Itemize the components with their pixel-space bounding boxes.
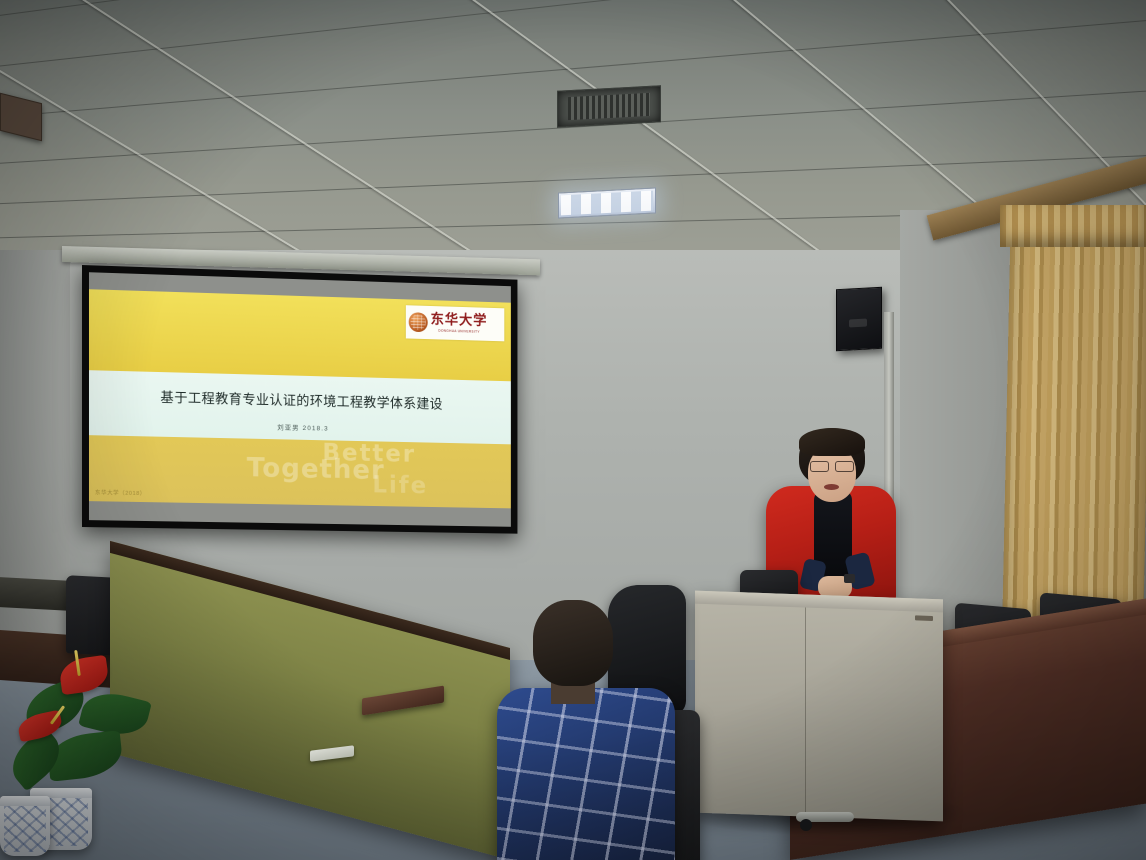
wall-speaker-icon: [836, 287, 882, 351]
anthurium-flower: [58, 655, 110, 695]
table-caster-base: [796, 812, 854, 822]
globe-icon: [409, 312, 428, 332]
anthurium-plant-small: [0, 786, 60, 860]
slide-footer: 东华大学（2018）: [95, 488, 146, 497]
pot-rim: [0, 796, 50, 806]
seated-audience-person: [495, 600, 680, 860]
podium-door-seam: [805, 608, 806, 817]
lecture-room-photo: 东华大学 DONGHUA UNIVERSITY Together Better …: [0, 0, 1146, 860]
porcelain-pot-small: [0, 796, 50, 856]
presenter-fringe: [799, 428, 865, 456]
logo-chinese-name: 东华大学: [431, 313, 488, 328]
presenter-wristwatch: [844, 574, 855, 583]
plaid-shirt: [497, 688, 675, 860]
glasses-icon: [810, 461, 854, 470]
university-logo: 东华大学 DONGHUA UNIVERSITY: [406, 305, 504, 341]
logo-english-name: DONGHUA UNIVERSITY: [438, 329, 479, 334]
presentation-slide: 东华大学 DONGHUA UNIVERSITY Together Better …: [89, 289, 511, 508]
lectern-podium: [695, 591, 943, 822]
person-head: [533, 600, 613, 686]
presenter-mouth: [824, 484, 839, 490]
left-wall: [0, 250, 70, 680]
air-vent-icon: [557, 85, 661, 127]
ceiling-light-icon: [558, 187, 656, 218]
slide-band-bottom: [89, 435, 511, 508]
projection-screen: 东华大学 DONGHUA UNIVERSITY Together Better …: [82, 265, 517, 534]
ceiling-corner-box: [0, 93, 42, 141]
podium-latch: [915, 615, 933, 621]
curtain-pleat-header: [1000, 205, 1146, 247]
